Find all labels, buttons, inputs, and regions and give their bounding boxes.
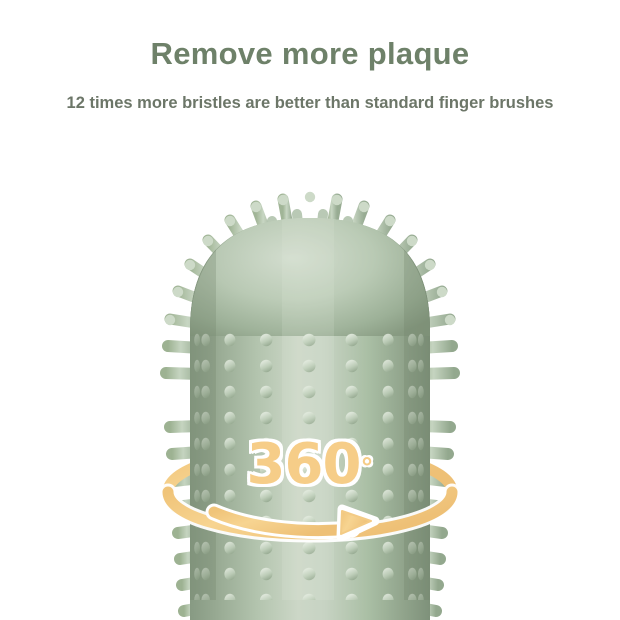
product-marketing-image: 360° Remove more plaque 12 times more br…	[0, 0, 620, 620]
subtitle-line-1: 12 times more bristles are better than s…	[67, 94, 485, 112]
subtitle-line-2: brushes	[489, 94, 553, 112]
page-subtitle: 12 times more bristles are better than s…	[60, 92, 560, 116]
page-title: Remove more plaque	[0, 36, 620, 72]
